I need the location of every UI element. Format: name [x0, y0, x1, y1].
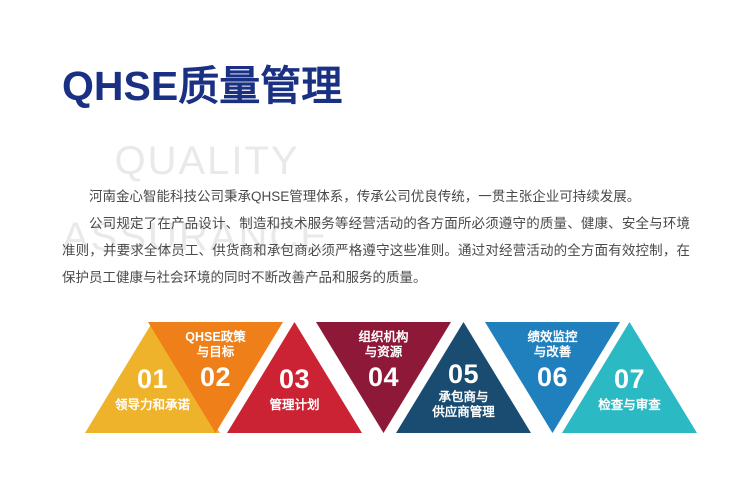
body-paragraph-1: 河南金心智能科技公司秉承QHSE管理体系，传承公司优良传统，一贯主张企业可持续发… [62, 183, 690, 210]
process-triangle-07[interactable]: 07检查与审查 [562, 322, 697, 433]
subtitle-english-line1: QUALITY [114, 139, 299, 183]
header-block: QUALITY ASSURANCE QHSE质量管理 [62, 62, 682, 172]
qhse-process-triangle-row: 01领导力和承诺02QHSE政策与目标03管理计划04组织机构与资源05承包商与… [0, 322, 745, 437]
body-paragraph-2: 公司规定了在产品设计、制造和技术服务等经营活动的各方面所必须遵守的质量、健康、安… [62, 210, 690, 291]
body-copy: 河南金心智能科技公司秉承QHSE管理体系，传承公司优良传统，一贯主张企业可持续发… [62, 183, 690, 291]
triangle-shape-07 [562, 322, 697, 433]
page-title: QHSE质量管理 [62, 62, 342, 110]
